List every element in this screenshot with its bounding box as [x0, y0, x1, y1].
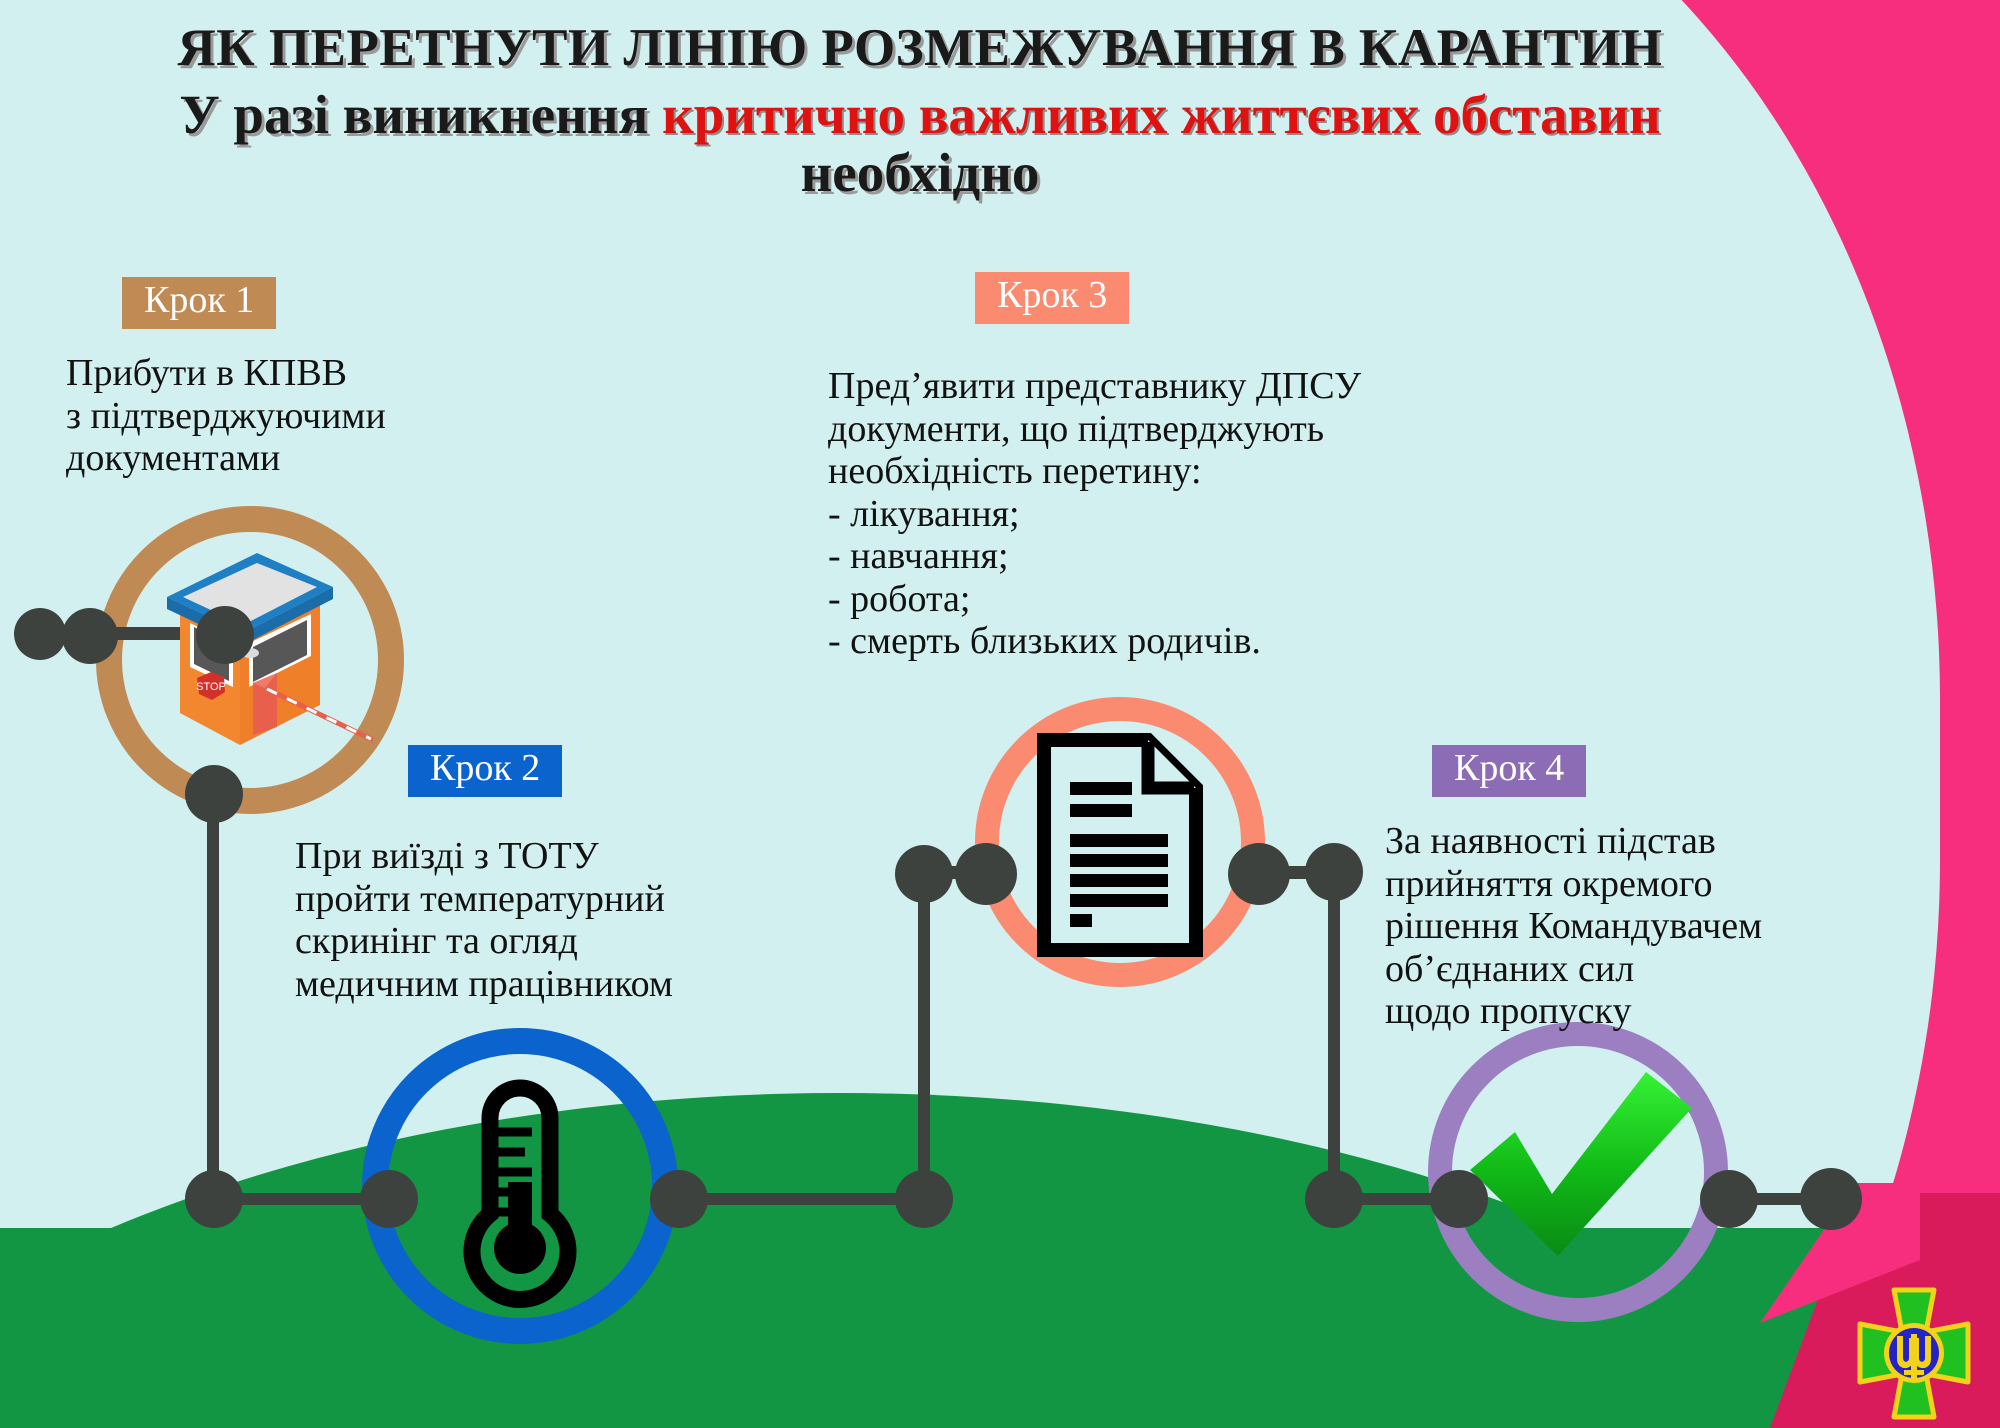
connector-dot-step3-left — [955, 843, 1017, 905]
connector-dot-corner-4 — [1305, 1170, 1363, 1228]
connector-dot-step2-right — [650, 1170, 708, 1228]
connector-dot-corner-3 — [1305, 843, 1363, 901]
subtitle-part-highlight: критично важливих життєвих обставин — [662, 84, 1661, 145]
infographic-canvas: ЯК ПЕРЕТНУТИ ЛІНІЮ РОЗМЕЖУВАННЯ В КАРАНТ… — [0, 0, 2000, 1428]
page-subtitle: У разі виникнення критично важливих житт… — [0, 86, 1840, 202]
checkpoint-booth-icon: STOP — [125, 535, 375, 785]
connector-dot-corner-2 — [895, 1170, 953, 1228]
connector-dot-left-outer — [62, 608, 118, 664]
page-title: ЯК ПЕРЕТНУТИ ЛІНІЮ РОЗМЕЖУВАННЯ В КАРАНТ… — [0, 18, 1840, 78]
connector-dot-step4-left — [1430, 1170, 1488, 1228]
connector-dot-step4-right — [1700, 1170, 1758, 1228]
subtitle-part-last: необхідно — [801, 142, 1040, 203]
connector-dot-step3-right — [1228, 843, 1290, 905]
step-4-text: За наявності підстав прийняття окремого … — [1385, 820, 1985, 1033]
connector-dot-step1-left — [196, 606, 254, 664]
connector-dot-step3-approach — [895, 845, 953, 903]
page-title-block: ЯК ПЕРЕТНУТИ ЛІНІЮ РОЗМЕЖУВАННЯ В КАРАНТ… — [0, 18, 1840, 202]
step-1-text: Прибути в КПВВ з підтверджуючими докумен… — [66, 352, 626, 480]
connector-dot-left-end — [14, 608, 66, 660]
connector-corner2-vertical — [918, 870, 930, 1200]
connector-dot-corner-1 — [185, 1170, 243, 1228]
connector-step1-vertical — [207, 790, 219, 1202]
document-icon — [1030, 730, 1210, 960]
subtitle-part-plain: У разі виникнення — [179, 84, 662, 145]
step-3-chip[interactable]: Крок 3 — [975, 272, 1129, 324]
connector-step2-to-corner — [690, 1193, 920, 1205]
ukraine-border-guard-emblem — [1844, 1286, 1984, 1421]
step-2-text: При виїзді з ТОТУ пройти температурний с… — [295, 835, 875, 1005]
green-check-icon — [1460, 1060, 1700, 1290]
step-3-text: Пред’явити представнику ДПСУ документи, … — [828, 365, 1688, 663]
step-2-chip[interactable]: Крок 2 — [408, 745, 562, 797]
connector-dot-right-end — [1800, 1168, 1862, 1230]
step-1-chip[interactable]: Крок 1 — [122, 277, 276, 329]
connector-corner3-vertical — [1328, 870, 1340, 1200]
connector-dot-step1-bottom — [185, 765, 243, 823]
thermometer-icon — [440, 1070, 600, 1310]
step-4-chip[interactable]: Крок 4 — [1432, 745, 1586, 797]
connector-dot-step2-left — [360, 1170, 418, 1228]
svg-text:STOP: STOP — [196, 681, 226, 693]
